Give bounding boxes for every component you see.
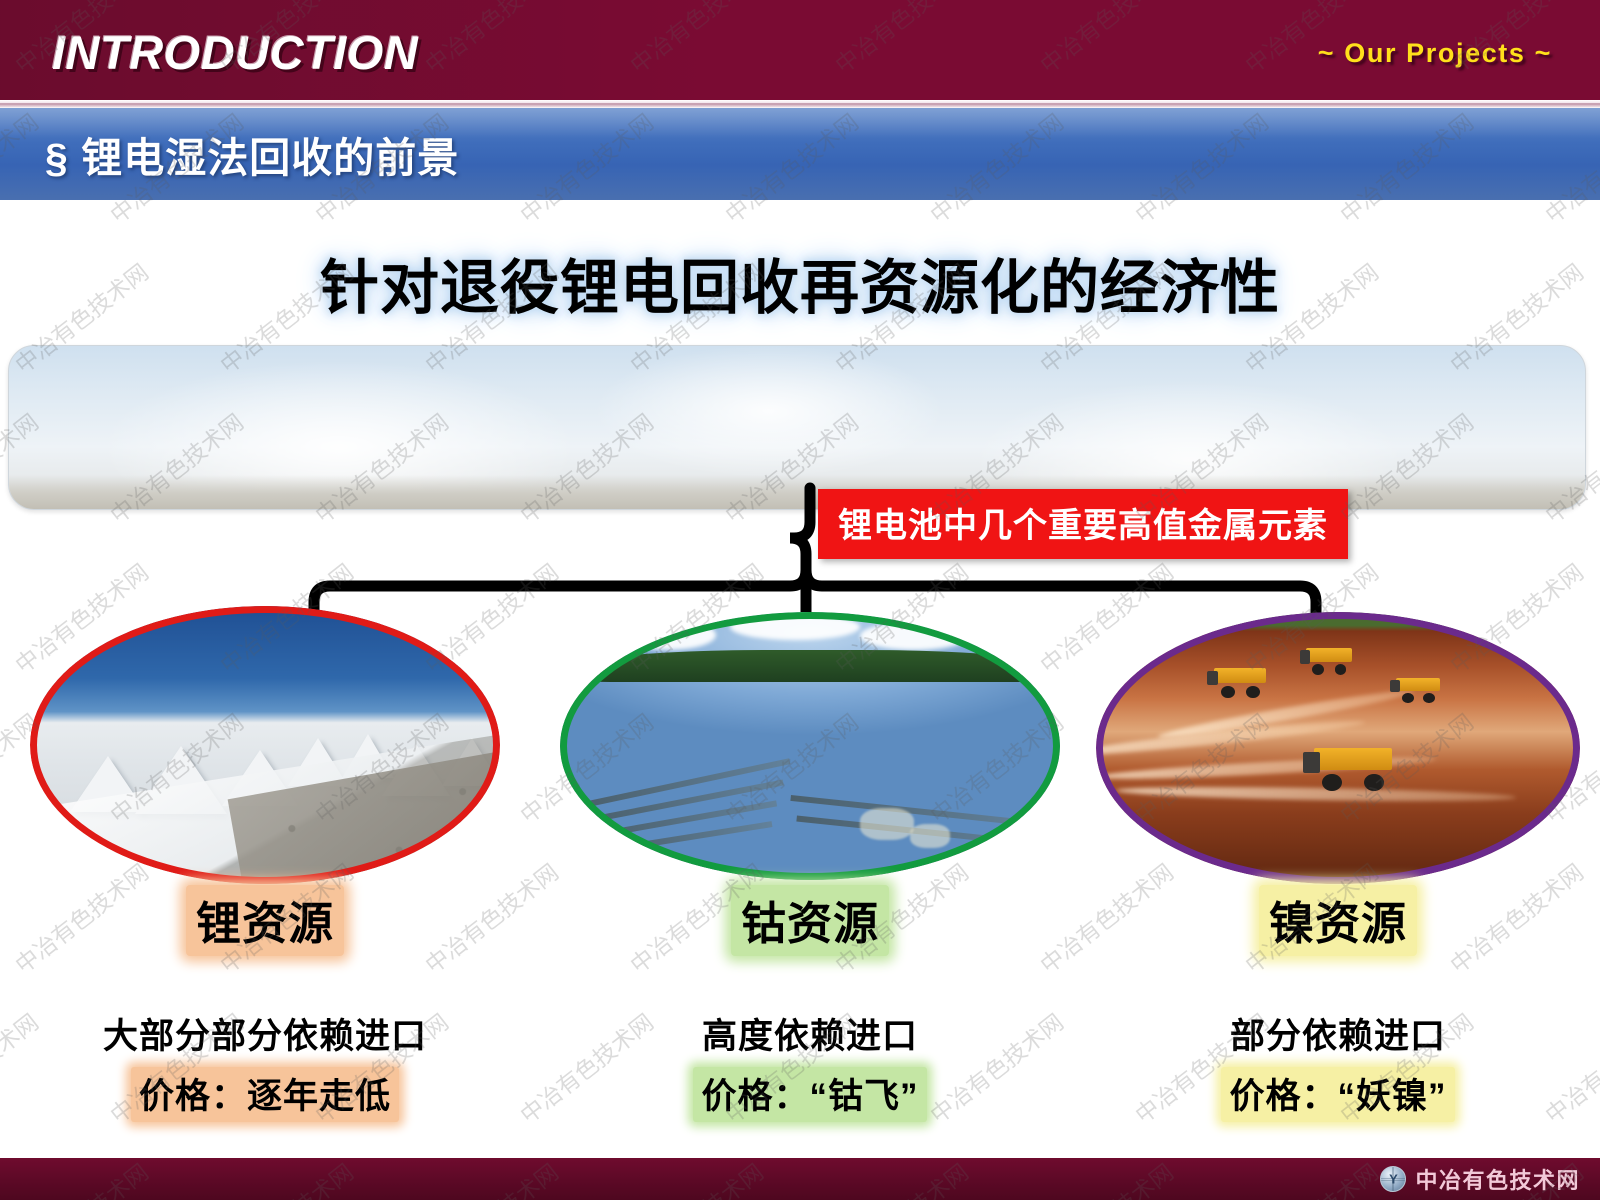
section-title-text: § 锂电湿法回收的前景	[45, 124, 459, 184]
page-title: INTRODUCTION	[52, 25, 418, 80]
header-divider	[0, 100, 1600, 108]
slide-canvas: INTRODUCTION ~ Our Projects ~ § 锂电湿法回收的前…	[0, 0, 1600, 1200]
resource-price-cobalt: 价格：“钴飞”	[693, 1067, 926, 1122]
brand-name: 中冶有色技术网	[1415, 1163, 1580, 1195]
resource-price-row-nickel: 价格：“妖镍”	[1096, 1067, 1580, 1122]
resource-caption-cobalt: 钴资源 高度依赖进口 价格：“钴飞”	[560, 885, 1060, 1122]
haul-truck-1	[1214, 668, 1266, 694]
resource-dependency-cobalt: 高度依赖进口	[560, 1008, 1060, 1059]
resource-price-row-cobalt: 价格：“钴飞”	[560, 1067, 1060, 1122]
resource-captions-row: 锂资源 大部分部分依赖进口 价格：逐年走低 钴资源 高度依赖进口 价格：“钴飞”…	[0, 885, 1600, 1145]
resource-caption-lithium: 锂资源 大部分部分依赖进口 价格：逐年走低	[30, 885, 500, 1122]
slide-footer: Y 中冶有色技术网	[0, 1158, 1600, 1200]
resource-caption-nickel: 镍资源 部分依赖进口 价格：“妖镍”	[1096, 885, 1580, 1122]
open-pit-mine-artwork	[560, 612, 1060, 880]
projects-label: ~ Our Projects ~	[1318, 38, 1552, 69]
salt-flat-artwork	[30, 606, 500, 884]
resource-oval-nickel	[1096, 612, 1580, 884]
brand-logo: Y 中冶有色技术网	[1380, 1163, 1580, 1195]
globe-icon: Y	[1380, 1166, 1406, 1192]
resource-images-row	[0, 600, 1600, 900]
resource-oval-cobalt	[560, 612, 1060, 880]
resource-price-row-lithium: 价格：逐年走低	[30, 1067, 500, 1122]
laterite-mine-artwork	[1096, 612, 1580, 884]
resource-price-lithium: 价格：逐年走低	[131, 1067, 399, 1122]
haul-truck-4	[1314, 748, 1392, 786]
resource-dependency-lithium: 大部分部分依赖进口	[30, 1008, 500, 1059]
resource-dependency-nickel: 部分依赖进口	[1096, 1008, 1580, 1059]
resource-name-nickel: 镍资源	[1259, 885, 1417, 956]
resource-oval-lithium	[30, 606, 500, 884]
resource-name-cobalt: 钴资源	[731, 885, 889, 956]
resource-price-nickel: 价格：“妖镍”	[1221, 1067, 1454, 1122]
section-title-bar: § 锂电湿法回收的前景	[0, 108, 1600, 200]
headline-text: 针对退役锂电回收再资源化的经济性	[0, 240, 1600, 325]
slide-header: INTRODUCTION ~ Our Projects ~	[0, 0, 1600, 100]
callout-badge: 锂电池中几个重要高值金属元素	[818, 489, 1348, 559]
haul-truck-3	[1396, 678, 1440, 700]
resource-name-lithium: 锂资源	[186, 885, 344, 956]
globe-mark-letter: Y	[1389, 1172, 1398, 1187]
haul-truck-2	[1306, 648, 1352, 672]
